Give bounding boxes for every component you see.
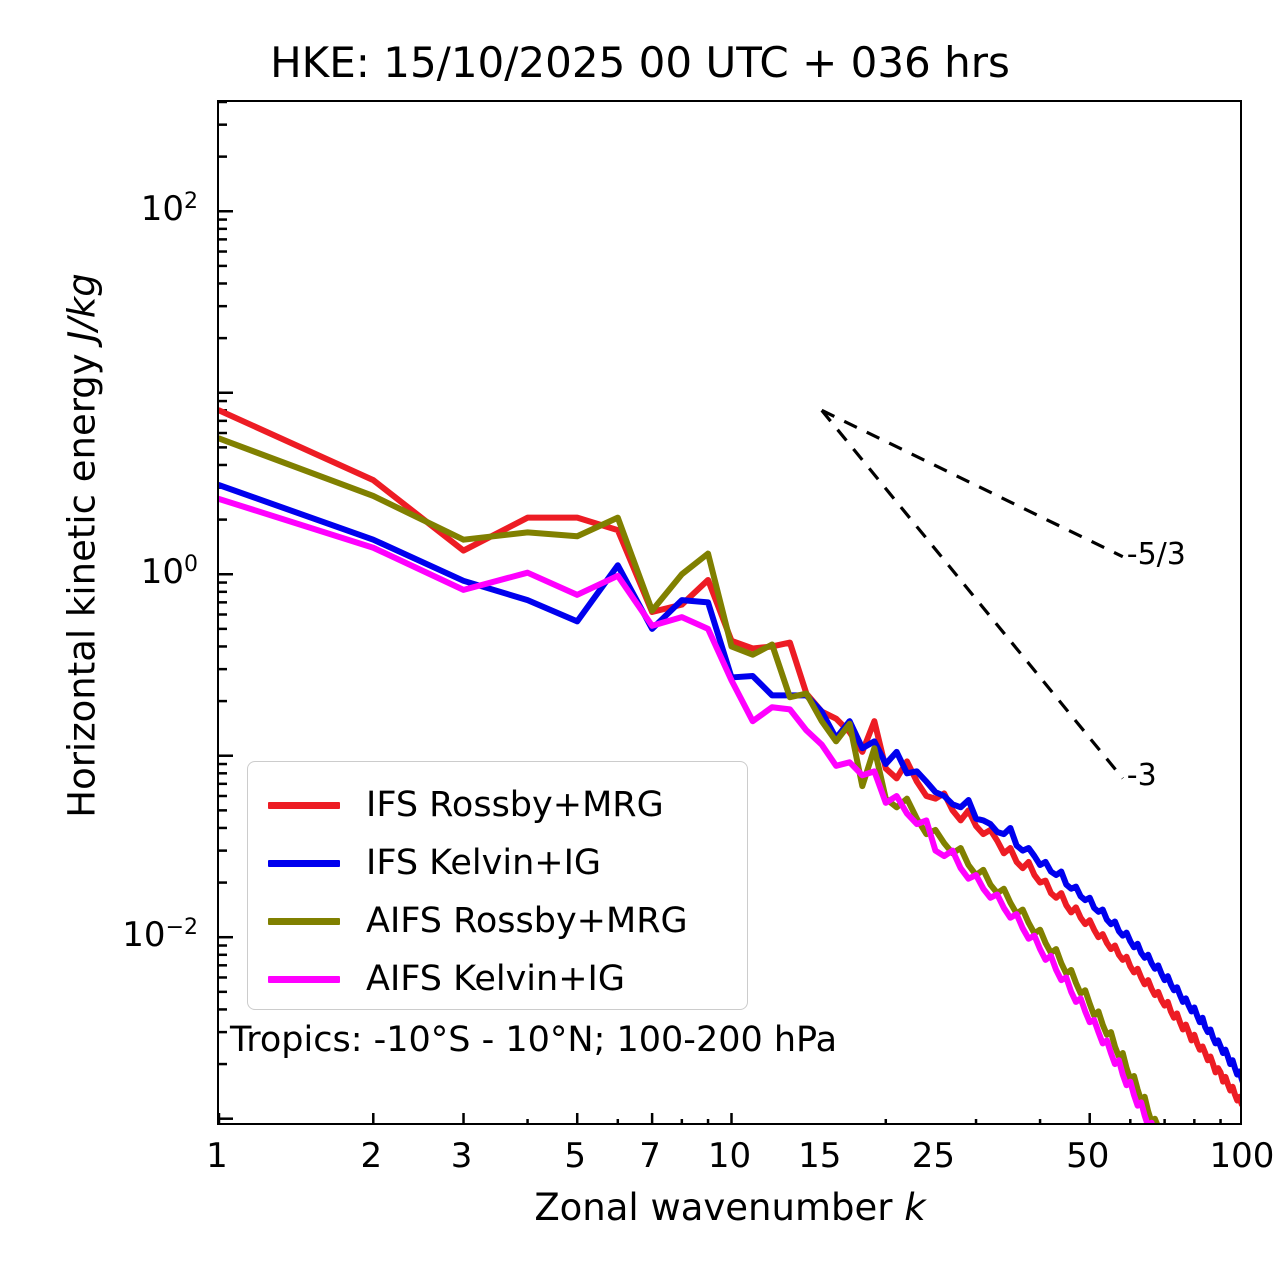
- y-axis-label-main: Horizontal kinetic energy: [61, 342, 104, 818]
- slope-reference-label: -3: [1127, 758, 1157, 793]
- legend-label: AIFS Kelvin+IG: [366, 962, 625, 997]
- slope-reference-label: -5/3: [1127, 537, 1186, 572]
- region-annotation: Tropics: -10°S - 10°N; 100-200 hPa: [230, 1020, 837, 1060]
- legend-color-swatch: [268, 802, 340, 809]
- y-axis-label-units: J/kg: [61, 273, 104, 341]
- x-tick-label: 1: [206, 1136, 228, 1176]
- x-tick-label: 25: [912, 1136, 955, 1176]
- legend-item[interactable]: AIFS Kelvin+IG: [248, 950, 747, 1008]
- figure: HKE: 15/10/2025 00 UTC + 036 hrs Horizon…: [0, 0, 1280, 1288]
- legend-label: IFS Kelvin+IG: [366, 846, 601, 881]
- y-axis-label: Horizontal kinetic energy J/kg: [61, 196, 104, 896]
- y-tick-label: 100: [141, 552, 198, 592]
- x-tick-label: 100: [1210, 1136, 1275, 1176]
- x-axis-label-main: Zonal wavenumber: [534, 1186, 904, 1229]
- legend-item[interactable]: AIFS Rossby+MRG: [248, 892, 747, 950]
- x-tick-label: 5: [564, 1136, 586, 1176]
- legend-item[interactable]: IFS Kelvin+IG: [248, 834, 747, 892]
- legend-label: AIFS Rossby+MRG: [366, 904, 688, 939]
- legend: IFS Rossby+MRGIFS Kelvin+IGAIFS Rossby+M…: [247, 761, 748, 1010]
- legend-color-swatch: [268, 976, 340, 983]
- x-axis-label: Zonal wavenumber k: [217, 1186, 1243, 1229]
- legend-color-swatch: [268, 860, 340, 867]
- x-tick-label: 50: [1066, 1136, 1109, 1176]
- x-tick-label: 15: [798, 1136, 841, 1176]
- x-tick-label: 2: [360, 1136, 382, 1176]
- y-tick-label: 102: [141, 189, 198, 229]
- x-tick-label: 7: [639, 1136, 661, 1176]
- x-axis-label-symbol: k: [904, 1186, 925, 1229]
- legend-label: IFS Rossby+MRG: [366, 788, 664, 823]
- reference-slope-lines: [822, 410, 1123, 778]
- legend-color-swatch: [268, 918, 340, 925]
- x-tick-label: 3: [451, 1136, 473, 1176]
- y-tick-label: 10−2: [122, 915, 198, 955]
- x-tick-label: 10: [708, 1136, 751, 1176]
- legend-item[interactable]: IFS Rossby+MRG: [248, 776, 747, 834]
- chart-title: HKE: 15/10/2025 00 UTC + 036 hrs: [0, 38, 1280, 87]
